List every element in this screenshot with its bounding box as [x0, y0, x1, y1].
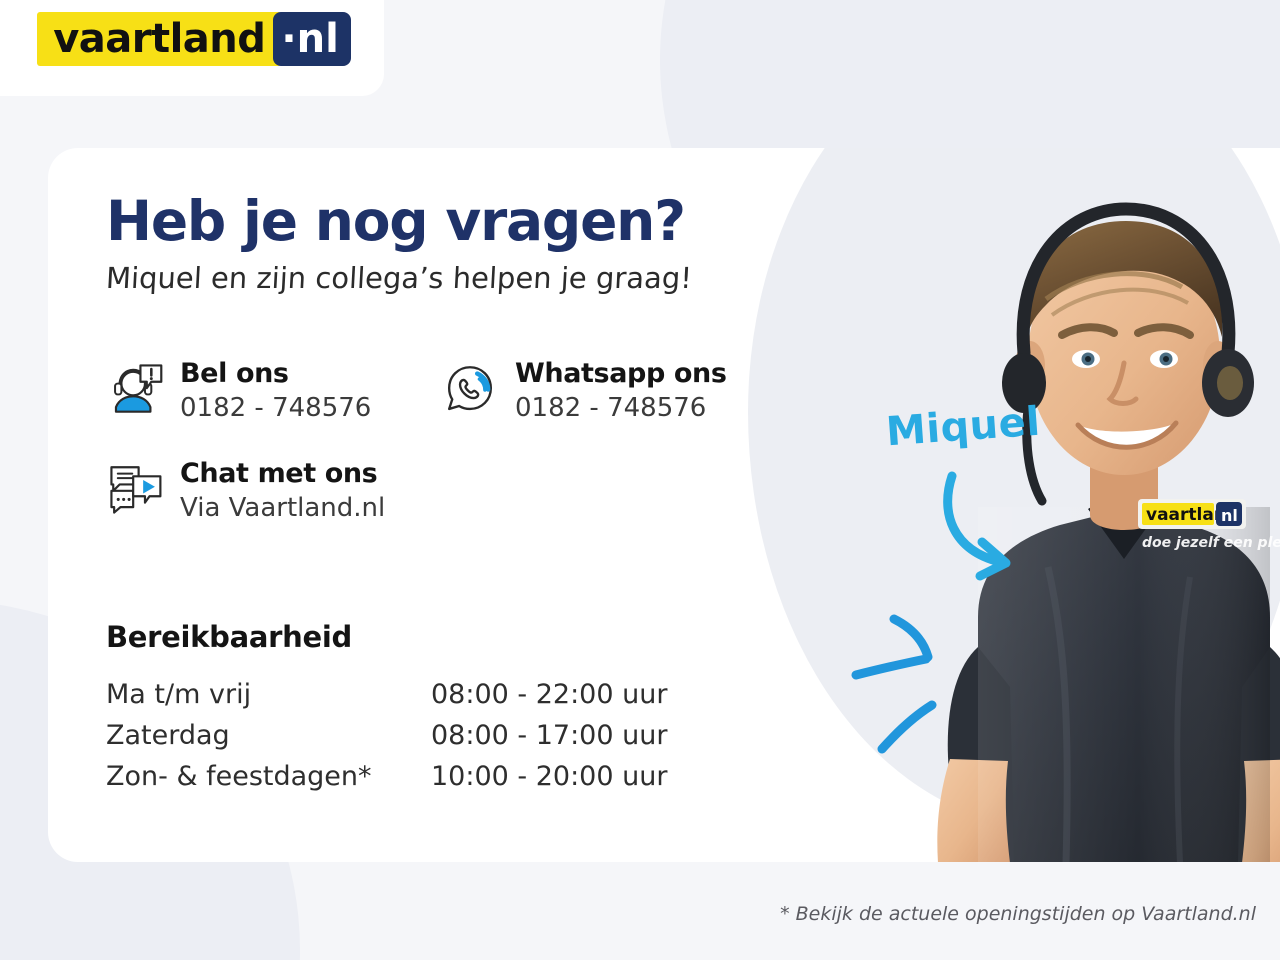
headset-person-icon	[106, 360, 164, 418]
table-row: Ma t/m vrij 08:00 - 22:00 uur	[106, 674, 706, 715]
page-title: Heb je nog vragen?	[106, 194, 806, 249]
hours-day: Zon- & feestdagen*	[106, 756, 431, 797]
opening-hours: Bereikbaarheid Ma t/m vrij 08:00 - 22:00…	[106, 620, 746, 797]
whatsapp-icon	[441, 360, 499, 418]
content-card: vaartland nl doe jezelf een plezier Heb …	[48, 148, 1280, 862]
hours-day: Ma t/m vrij	[106, 674, 431, 715]
contact-chat-title: Chat met ons	[180, 458, 385, 489]
promo-banner: vaartland ·nl	[0, 0, 1280, 960]
contact-whatsapp-value[interactable]: 0182 - 748576	[515, 389, 727, 428]
opening-hours-table: Ma t/m vrij 08:00 - 22:00 uur Zaterdag 0…	[106, 674, 706, 797]
hours-day: Zaterdag	[106, 715, 431, 756]
logo-wordmark: vaartland	[37, 12, 279, 66]
vaartland-logo[interactable]: vaartland ·nl	[37, 12, 351, 66]
curved-arrow-icon	[938, 468, 1068, 588]
contact-methods: Bel ons 0182 - 748576 What	[106, 356, 846, 528]
opening-hours-title: Bereikbaarheid	[106, 620, 746, 654]
accent-speed-lines	[848, 603, 968, 763]
table-row: Zaterdag 08:00 - 17:00 uur	[106, 715, 706, 756]
contact-whatsapp[interactable]: Whatsapp ons 0182 - 748576	[441, 356, 727, 428]
hours-time: 08:00 - 17:00 uur	[431, 715, 667, 756]
hours-time: 10:00 - 20:00 uur	[431, 756, 667, 797]
contact-call-value[interactable]: 0182 - 748576	[180, 389, 371, 428]
svg-text:doe jezelf een plezier: doe jezelf een plezier	[1142, 535, 1280, 551]
chat-bubbles-icon	[106, 460, 164, 518]
logo-tld: ·nl	[273, 12, 350, 66]
contact-whatsapp-title: Whatsapp ons	[515, 358, 727, 389]
contact-call[interactable]: Bel ons 0182 - 748576	[106, 356, 441, 428]
footnote: * Bekijk de actuele openingstijden op Va…	[0, 903, 1280, 925]
contact-chat-value[interactable]: Via Vaartland.nl	[180, 489, 385, 528]
table-row: Zon- & feestdagen* 10:00 - 20:00 uur	[106, 756, 706, 797]
hours-time: 08:00 - 22:00 uur	[431, 674, 667, 715]
svg-text:nl: nl	[1221, 506, 1238, 525]
headline-block: Heb je nog vragen? Miquel en zijn colleg…	[106, 194, 806, 295]
contact-call-title: Bel ons	[180, 358, 371, 389]
page-subtitle: Miquel en zijn collega’s helpen je graag…	[105, 263, 807, 295]
logo-panel: vaartland ·nl	[0, 0, 384, 96]
contact-chat[interactable]: Chat met ons Via Vaartland.nl	[106, 456, 441, 528]
